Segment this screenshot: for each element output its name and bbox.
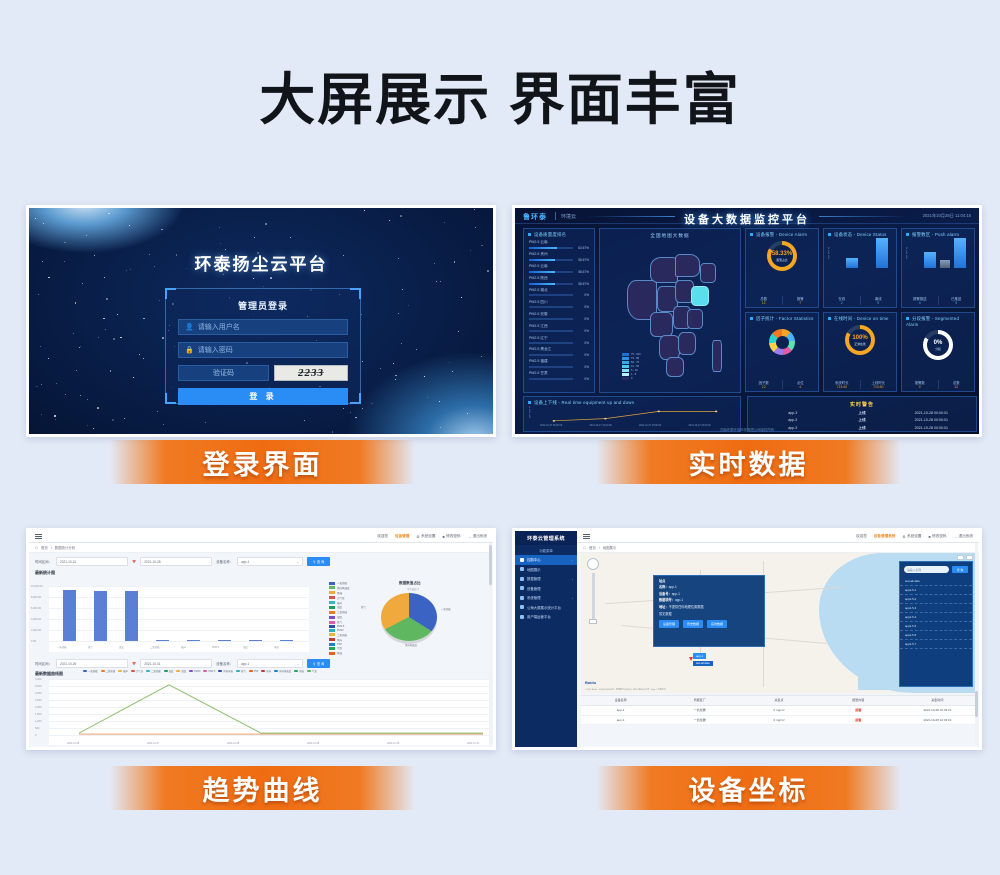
date-from-input[interactable]: 2021-10-21 [56,557,128,566]
legend-label: 1 - 5 [631,373,636,376]
sidebar-item-label: 系统管理 [527,595,541,600]
line-legend-item[interactable]: 二氧化碳 [146,669,161,673]
sidebar-item-1[interactable]: 地图展示 [515,565,577,575]
bar-chart: 10,000.008,000.006,000.004,000.002,000.0… [49,586,309,652]
device-list-item[interactable]: app2-5-1 [900,586,972,595]
device-list-item[interactable]: app2-5-6 [900,631,972,640]
password-input[interactable]: 🔒 请输入密码 [178,342,348,358]
line-legend-swatch [101,670,105,672]
star [395,375,396,376]
app-logo: 环泰云管理系统 [515,531,577,545]
search-button-top[interactable]: ⚲ 查 询 [307,557,330,566]
legend-row: 10 - 50 [622,365,641,368]
kpi-card[interactable]: 设备状态 - Device Status97531在线2离线9 [823,228,897,308]
pie-legend-swatch [329,629,335,632]
bar[interactable] [125,591,138,641]
login-form: 管理员登录 👤 请输入用户名 🔒 请输入密码 验证码 2233 登 录 [165,288,361,404]
line-legend-swatch [294,670,298,672]
bar[interactable] [94,591,107,641]
line-legend-item[interactable]: 噪声 [118,669,128,673]
table-cell: 一氧化碳 [660,716,739,725]
pie-label: 风向风速度 [405,643,417,647]
device-search-button[interactable]: 查 询 [952,566,968,573]
table-body: app-1一氧化碳0 mg/m³报警2021-10-28 10:33:19app… [581,706,977,726]
rank-label: PM2.5 黑龙江 [529,347,589,352]
popup-row: 地址：不提供任何地理位置数据 [654,602,764,609]
pie-legend-row: TSP [329,643,350,646]
kpi-cell: 已推送9 [939,296,975,305]
gridline [49,586,309,587]
user-icon: 👤 [185,323,194,331]
legend-swatch [622,369,629,371]
header-actions: 欢迎您 设备管理系统 ⚙系统设置 ■修改密码 →退出系统 [856,534,973,539]
star [54,415,55,416]
legend-swatch [622,373,629,375]
alarm-time: 2021-10-28 00:00:01 [897,418,966,423]
legend-swatch [622,353,629,355]
table-column-header: 报警内容 [819,696,898,705]
mini-pie-chart [746,322,818,362]
home-icon[interactable]: ☖ [35,546,38,550]
rank-bar-row: 0% [529,329,589,333]
table-cell: 2021-10-28 10:33:19 [898,716,977,725]
kpi-cell: 在线2 [824,296,861,305]
alarm-device: app-3 [758,418,827,423]
star [219,227,220,228]
date-to-input[interactable]: 2021-10-28 [140,557,212,566]
pie-legend-swatch [329,601,335,604]
rank-item: PM2.5 福建0% [529,359,589,369]
device-select[interactable]: app-1 ⌄ [237,557,303,566]
donut-chart: 100%正常在线 [845,325,875,355]
kpi-card-title: 设备报警 - Device Alarm [746,229,818,238]
sidebar-item-4[interactable]: 系统管理› [515,593,577,603]
pie-legend-row: 气压 [329,646,350,650]
line-legend-item[interactable]: 风向风速度 [274,669,291,673]
rank-value: 0% [576,365,589,369]
legend-label: 5 - 10 [631,369,638,372]
menu-title: 功能菜单 [515,545,577,555]
caption-login-label: 登录界面 [203,443,323,482]
kpi-card[interactable]: 报警数区 - Push alarm97531报警推送4已推送9 [901,228,975,308]
pie-legend-label: 风向风速度 [337,586,350,590]
star [254,237,255,238]
expand-icon[interactable] [966,555,973,560]
pie-legend-label: 气压 [337,646,342,650]
line-legend-item[interactable]: 风向 [261,669,271,673]
header-deco-left [585,216,675,217]
mini-y-axis: 97531 [906,248,907,261]
province [700,263,716,283]
menu-toggle-icon[interactable] [583,534,590,539]
rank-bar-row: 0% [529,317,589,321]
mini-bar [954,238,966,268]
pie-legend-swatch [329,625,335,628]
rank-value: 58.67% [576,258,589,262]
zoom-slider[interactable] [592,573,595,619]
pie-legend-label: 二氧化碳 [337,633,347,637]
rank-label: PM2.5 安徽 [529,312,589,317]
pie-legend-swatch [329,591,335,594]
mini-bar [924,252,936,268]
sidebar-item-6[interactable]: 用户端运营平台 [515,612,577,622]
card-device-rank[interactable]: 设备质量度排名 PM2.5 云南63.67%PM2.5 贵州58.67%PM2.… [523,228,595,393]
captcha-input[interactable]: 验证码 [178,365,269,381]
star [332,431,333,432]
header-active-item[interactable]: 设备管理 [395,534,409,539]
pie-legend-swatch [329,633,335,636]
star [400,215,402,217]
star [270,277,272,279]
pie-legend-row: 风向 [329,638,350,642]
username-input[interactable]: 👤 请输入用户名 [178,319,348,335]
rank-bar-row: 0% [529,377,589,381]
star [265,223,267,225]
lock-icon: 🔒 [185,346,194,354]
device-list-panel[interactable]: 请输入名称 查 询 test-all-data app2-5-1app2-5-2… [899,561,973,687]
province [687,309,703,329]
star [133,377,134,378]
star [120,337,122,339]
popup-action-button[interactable]: 实时数据 [707,620,727,628]
caption-dashboard: 实时数据 [596,440,901,484]
rank-value: 0% [576,341,589,345]
rank-label: PM2.5 云南 [529,240,589,245]
pie-legend-label: 噪声 [337,601,342,605]
rank-value: 0% [576,317,589,321]
legend-swatch [622,361,629,363]
pie-legend-label: 风向 [337,638,342,642]
screenshot-login[interactable]: 环泰扬尘云平台 管理员登录 👤 请输入用户名 🔒 请输入密码 验证码 2233 … [26,205,496,437]
sidebar-item-2[interactable]: 数据管理› [515,574,577,584]
line-legend-swatch [118,670,122,672]
mini-bar-chart: 97531 [824,238,896,278]
star [124,418,125,419]
rank-bar-row: 0% [529,305,589,309]
device-label: 设备名称： [216,559,233,564]
legend-swatch [622,357,629,359]
star [343,408,344,409]
caption-trend: 趋势曲线 [110,766,415,810]
sidebar-item-0[interactable]: 控制中心⌄ [515,555,577,565]
pie-legend-row: 风速 [329,591,350,595]
province [675,254,700,277]
x-tick: 2021-10-26 [67,742,79,745]
marker-name: app-1 [696,654,703,658]
line-legend-item[interactable]: TSP [249,669,259,673]
menu-icon [520,567,524,571]
breadcrumb-home[interactable]: 首页 [589,545,596,550]
caption-trend-label: 趋势曲线 [203,769,323,808]
coords-main: 欢迎您 设备管理系统 ⚙系统设置 ■修改密码 →退出系统 ☖ 首页 / 地图展示 [577,531,979,747]
star [65,394,66,395]
login-submit-button[interactable]: 登 录 [178,388,348,405]
header-item-settings[interactable]: ⚙系统设置 [902,534,921,539]
kpi-value: 0 [902,385,938,389]
star [439,401,440,402]
china-map[interactable]: 75 - 10073 - 8550 - 7510 - 505 - 101 - 5… [616,243,730,386]
rank-item: PM2.5 甘肃0% [529,371,589,381]
table-row[interactable]: app-1一氧化碳0 mg/m³报警2021-10-28 10:33:19 [581,716,977,726]
line-legend-item[interactable]: 温度 [164,669,174,673]
star [110,370,112,372]
pie-legend-row: PM10 [329,629,350,632]
star [364,210,365,211]
bar[interactable] [280,640,293,641]
popup-action-button[interactable]: 设备管理 [659,620,679,628]
rank-value: 58.67% [576,270,589,274]
mini-bar [846,258,858,268]
kpi-card[interactable]: 因子统计 - Factor Statistics因子数12点位4 [745,312,819,392]
zoom-handle[interactable] [589,619,597,624]
kpi-card-title: 分段报警 - Segmented Alarm [902,313,974,327]
star [444,222,445,223]
star [35,218,36,219]
pie-legend-swatch [329,643,335,646]
bar[interactable] [156,640,169,641]
screenshot-trend[interactable]: 欢迎您 设备管理 ⚙系统设置 ■修改密码 →退出系统 ☖ 首页 / 数据统计分析… [26,528,496,750]
kpi-footer: 因子数12点位4 [746,380,818,389]
captcha-image[interactable]: 2233 [274,365,348,381]
kpi-footer: 报警数0总数12 [902,380,974,389]
pie-legend-row: 温度 [329,605,350,609]
y-tick: 3,500 [35,685,42,688]
pie-chart[interactable] [381,593,437,641]
star [436,281,437,282]
line-legend-item[interactable]: 二氧化硫 [101,669,116,673]
rank-bar-row: 0% [529,353,589,357]
trend-root: 欢迎您 设备管理 ⚙系统设置 ■修改密码 →退出系统 ☖ 首页 / 数据统计分析… [29,531,493,747]
alarm-table: 设备名称所属区厂采集点报警内容采集时间 app-1一氧化碳0 mg/m³报警20… [581,695,977,725]
star [139,354,140,355]
province-highlighted [691,286,709,306]
pie-legend-label: 一氧化碳 [337,581,347,585]
popup-value: app-1 [669,585,677,589]
alarm-time: 2021-10-28 00:00:01 [897,411,966,416]
pie-subtitle: 平均值统计 [407,587,419,591]
breadcrumb: ☖ 首页 / 地图展示 [577,543,979,553]
alarm-table-title: 实时警告 [748,397,976,408]
line-legend-item[interactable]: PM10 [189,669,200,673]
screenshot-coords[interactable]: 环泰云管理系统 功能菜单 控制中心⌄地图展示数据管理›设备管理系统管理›公海大屏… [512,528,982,750]
header-item-settings[interactable]: ⚙系统设置 [416,534,435,539]
y-tick: 2,500 [35,699,42,702]
screenshot-dashboard[interactable]: 鲁环泰 环境云 设备大数据监控平台 2021年10月28日 11:04:15 设… [512,205,982,437]
sidebar-item-5[interactable]: 公海大屏展示统计平台 [515,603,577,613]
scrollbar-thumb[interactable] [975,691,978,717]
kpi-card[interactable]: 分段报警 - Segmented Alarm0%分段报警数0总数12 [901,312,975,392]
pie-legend-label: PM10 [337,629,344,632]
kpi-cell: 系统时长713:40 [824,380,861,389]
map-marker-label[interactable]: app-1 [693,653,706,659]
rank-bar-row: 0% [529,365,589,369]
line-legend-swatch [236,670,240,672]
kpi-card[interactable]: 设备报警 - Device Alarm58.33%报警占比总数12报警7 [745,228,819,308]
table-column-header: 设备名称 [581,696,660,705]
breadcrumb-sep: / [599,546,600,550]
popup-key: 数据项号： [659,598,675,602]
x-tick: 2021-10-29 [307,742,319,745]
card-map[interactable]: 全国地图大数据 75 - 10073 - 8550 - [599,228,741,393]
map-canvas[interactable]: 站点 名称：app-1设备号：app-1数据项号：app-1地址：不提供任何地理… [581,553,977,693]
device-list-item[interactable]: app2-5-2 [900,595,972,604]
compass-icon[interactable] [587,558,599,570]
line-legend-item[interactable]: 湿度 [176,669,186,673]
map-window-controls[interactable] [957,555,973,560]
legend-label: 73 - 85 [631,357,639,360]
rank-item: PM2.5 四川0% [529,300,589,310]
pie-legend-row: 氧气 [329,620,350,624]
popup-value: 不提供任何地理位置数据 [669,605,704,609]
line-legend-swatch [203,670,207,672]
legend-label: 50 - 75 [631,361,639,364]
map-zoom-control[interactable] [587,558,599,624]
line-legend-swatch [307,670,311,672]
sidebar-item-3[interactable]: 设备管理 [515,584,577,594]
breadcrumb-current: 数据统计分析 [55,545,75,550]
rank-bar-fill [529,271,555,273]
table-cell: 报警 [819,716,898,725]
star [143,318,144,319]
rank-label: PM2.5 湖北 [529,288,589,293]
y-tick: 1,000 [35,720,42,723]
breadcrumb-sep: / [51,546,52,550]
pie-legend-label: 大气压 [337,596,345,600]
search-icon: ⚲ [313,560,315,564]
header-item-password[interactable]: ■修改密码 [442,534,460,539]
star [371,403,373,405]
star [104,277,105,278]
welcome-label: 欢迎您 [856,534,867,539]
star [112,419,114,421]
kpi-value: 713:40 [824,385,860,389]
dashboard-datetime: 2021年10月28日 11:04:15 [923,213,971,219]
chevron-down-icon: ⌄ [296,560,299,564]
star [87,425,88,426]
popup-key: 地址： [659,605,669,609]
star [253,278,254,279]
star [80,395,81,396]
popup-action-button[interactable]: 历史数据 [683,620,703,628]
rank-bar-fill [529,247,557,249]
caption-dashboard-label: 实时数据 [689,443,809,482]
rank-label: PM2.5 贵州 [529,252,589,257]
kpi-cell: 报警推送4 [902,296,939,305]
alarm-status: 上线 [827,418,896,423]
kpi-value: 4 [902,301,938,305]
table-row[interactable]: app-1一氧化碳0 mg/m³报警2021-10-28 10:33:19 [581,706,977,716]
uptime-y-axis: 43210 [529,407,530,420]
rank-bar-track [529,378,573,380]
line-legend-item[interactable]: 风向风速 [218,669,233,673]
popup-row: 暂无数据 [654,609,764,616]
donut-label: 正常在线 [854,342,865,346]
kpi-card-title: 设备状态 - Device Status [824,229,896,238]
kpi-cell: 报警数0 [902,380,939,389]
bar[interactable] [63,590,76,641]
mini-bar-chart: 97531 [902,238,974,278]
map-info-popup[interactable]: 站点 名称：app-1设备号：app-1数据项号：app-1地址：不提供任何地理… [653,575,765,647]
device-search-row: 请输入名称 查 询 [900,562,972,577]
device-list-item[interactable]: app2-5-3 [900,604,972,613]
pie-legend-label: 风速 [337,651,342,655]
pie-legend-row: 湿度 [329,615,350,619]
rank-item: PM2.5 云南63.67% [529,240,589,250]
uptime-chart: 43210 2021-10-27 06:00:002021-10-27 12:0… [536,407,734,423]
kpi-cell: 上线时长713:40 [861,380,897,389]
rank-item: PM2.5 江西0% [529,324,589,334]
device-list-item[interactable]: app2-5-4 [900,613,972,622]
star [75,302,76,303]
line-legend-item[interactable]: 一氧化碳 [83,669,98,673]
line-legend-item[interactable]: 气温 [307,669,317,673]
scrollbar-thumb[interactable] [489,545,492,585]
line-legend-item[interactable]: 风速 [294,669,304,673]
line-section-title: 最新数据曲线图 [29,667,69,677]
star [304,420,305,421]
header-item-logout[interactable]: →退出系统 [468,534,487,539]
star [461,297,462,298]
rank-bar-row: 0% [529,293,589,297]
pie-legend-label: 风速 [337,591,342,595]
pie-legend-label: PM2.5 [337,625,344,628]
line-legend-item[interactable]: 氧气 [236,669,246,673]
bar[interactable] [187,640,200,641]
breadcrumb-home[interactable]: 首页 [41,545,48,550]
province [659,335,680,361]
minimize-icon[interactable] [957,555,964,560]
star [290,237,291,238]
menu-toggle-icon[interactable] [35,534,42,539]
kpi-card-title: 报警数区 - Push alarm [902,229,974,238]
rank-label: PM2.5 陕西 [529,276,589,281]
device-list: app2-5-1app2-5-2app2-5-3app2-5-4app2-5-5… [900,586,972,649]
header-item-logout[interactable]: →退出系统 [954,534,973,539]
pie-legend-row: PM2.5 [329,625,350,628]
line-legend-swatch [131,670,135,672]
device-list-item[interactable]: app2-5-5 [900,622,972,631]
device-search-input[interactable]: 请输入名称 [904,566,949,573]
rank-bar-fill [529,283,555,285]
bar[interactable] [249,640,262,641]
header-item-password[interactable]: ■修改密码 [928,534,946,539]
device-list-item[interactable]: app2-5-7 [900,640,972,649]
star [157,411,158,412]
bar[interactable] [218,640,231,641]
header-active-item[interactable]: 设备管理系统 [874,534,896,539]
rank-item: PM2.5 陕西58.67% [529,276,589,286]
line-chart: 4,0003,5003,0002,5002,0001,5001,0005000 … [49,679,489,745]
line-legend-item[interactable]: 大气压 [131,669,143,673]
line-legend-item[interactable]: PM2.5 [203,669,215,673]
kpi-value: 4 [783,385,819,389]
breadcrumb: ☖ 首页 / 数据统计分析 [29,543,493,553]
y-tick: 0 [35,734,36,737]
star [361,314,362,315]
pie-label: 氧气 [361,605,366,609]
line-legend-swatch [261,670,265,672]
legend-label: 0 [631,377,632,380]
username-placeholder: 请输入用户名 [198,322,240,332]
home-icon[interactable]: ☖ [583,546,586,550]
alarm-device: app-3 [758,411,827,416]
legend-row: 1 - 5 [622,373,641,376]
star [79,347,80,348]
mini-bar-secondary [940,260,950,268]
kpi-card-title: 在线时间 - Device on time [824,313,896,322]
kpi-card[interactable]: 在线时间 - Device on time100%正常在线系统时长713:40上… [823,312,897,392]
pie-legend-row: 大气压 [329,596,350,600]
